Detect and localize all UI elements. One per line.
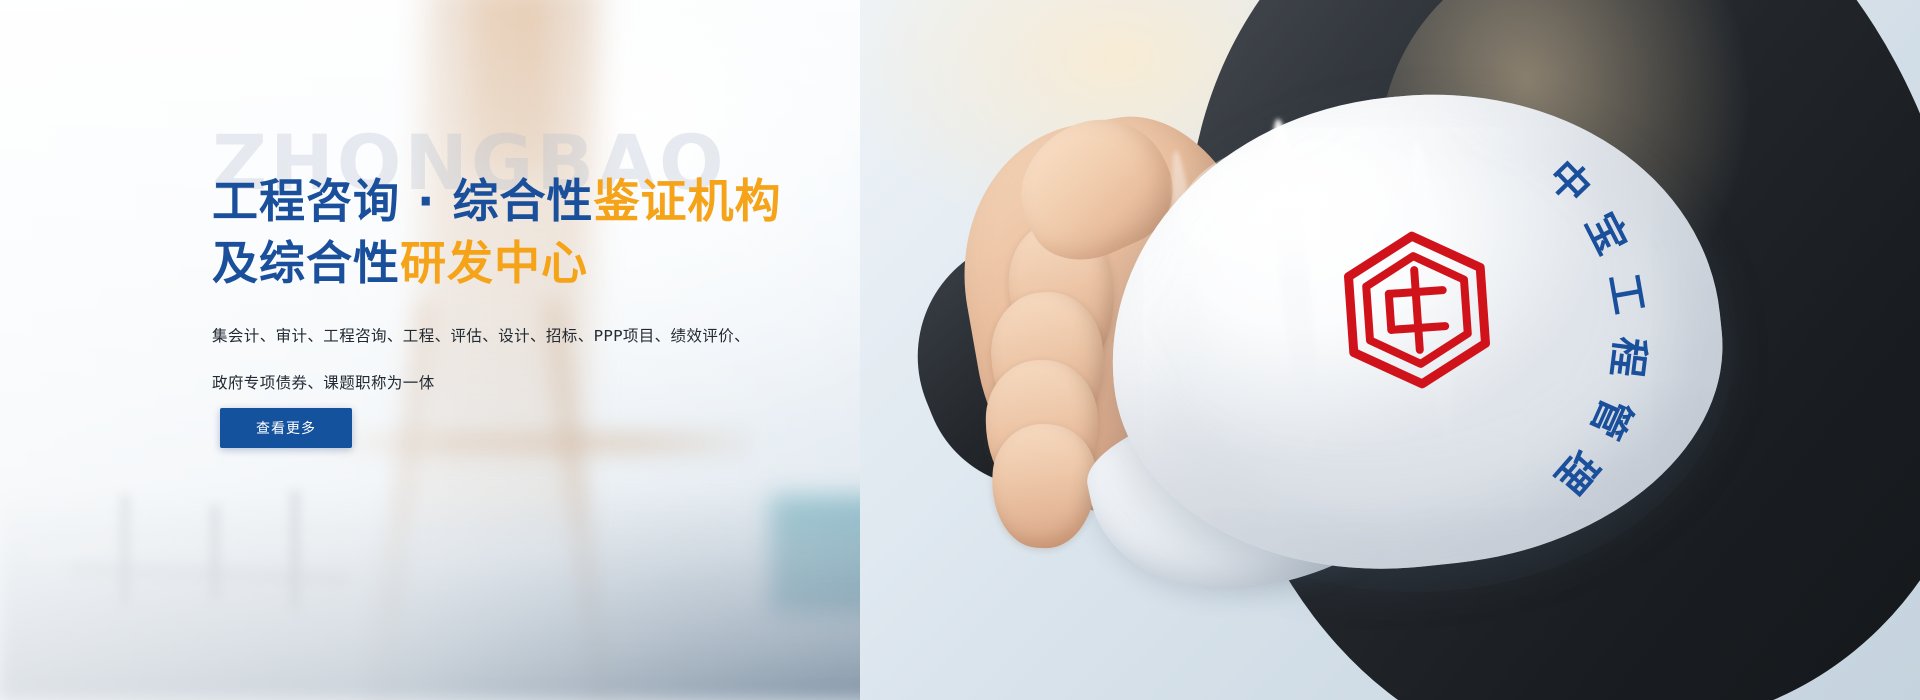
zhongbao-hexagon-logo bbox=[1337, 225, 1498, 395]
view-more-button[interactable]: 查看更多 bbox=[220, 408, 352, 448]
headline-line2-blue: 及综合性 bbox=[212, 236, 400, 290]
hero-description: 集会计、审计、工程咨询、工程、评估、设计、招标、PPP项目、绩效评价、 政府专项… bbox=[212, 313, 812, 407]
hero-content: ZHONGBAO 工程咨询 · 综合性鉴证机构 及综合性研发中心 集会计、审计、… bbox=[0, 0, 900, 700]
headline-line2-orange: 研发中心 bbox=[400, 236, 588, 290]
hardhat-char-1: 宝 bbox=[1574, 201, 1644, 263]
hardhat-char-3: 程 bbox=[1600, 334, 1662, 381]
hardhat-char-5: 理 bbox=[1545, 440, 1615, 508]
headline-line-1: 工程咨询 · 综合性鉴证机构 bbox=[212, 170, 782, 232]
hardhat-char-0: 中 bbox=[1537, 145, 1607, 214]
headline-line1-orange: 鉴证机构 bbox=[594, 174, 782, 228]
description-line-2: 政府专项债券、课题职称为一体 bbox=[212, 360, 812, 407]
hardhat-char-4: 管 bbox=[1580, 390, 1649, 450]
hardhat-char-2: 工 bbox=[1598, 268, 1662, 317]
headline-line1-blue: 工程咨询 · 综合性 bbox=[212, 174, 594, 228]
headline-line-2: 及综合性研发中心 bbox=[212, 232, 782, 294]
hero-headline: 工程咨询 · 综合性鉴证机构 及综合性研发中心 bbox=[212, 170, 782, 294]
hardhat-scene: 中宝工程管理 bbox=[860, 0, 1920, 700]
description-line-1: 集会计、审计、工程咨询、工程、评估、设计、招标、PPP项目、绩效评价、 bbox=[212, 313, 812, 360]
hero-banner: 中宝工程管理 ZHONGBAO bbox=[0, 0, 1920, 700]
